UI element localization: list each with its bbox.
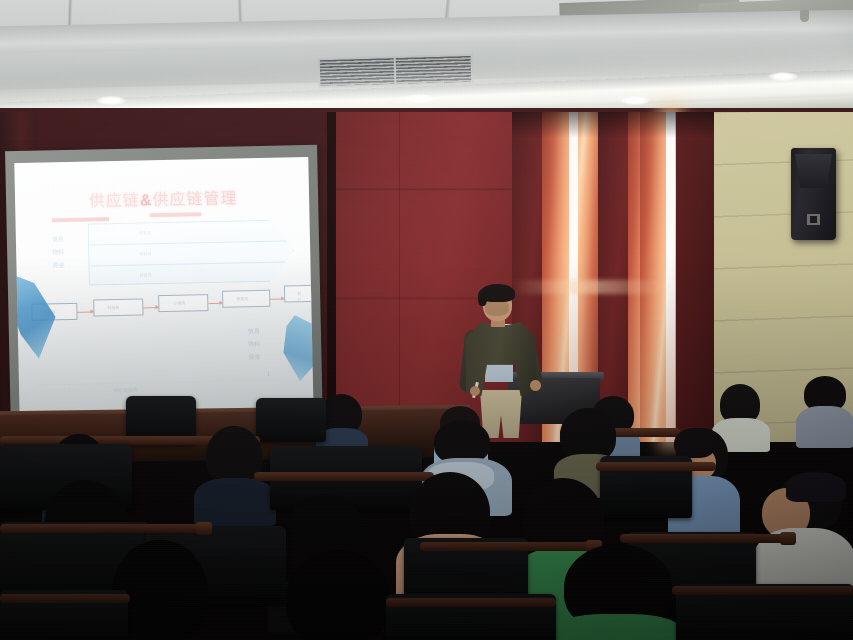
seat-armrest <box>196 522 212 535</box>
loudspeaker-icon <box>791 148 836 240</box>
slide-flow-arrow-band: 信息流 物料流 资金流 <box>88 219 295 285</box>
attendee-hair <box>286 550 390 640</box>
slide-title: 供应链&供应链管理 <box>43 183 283 212</box>
slide-flow-label: 资金 <box>248 352 260 365</box>
loudspeaker-badge <box>807 214 820 225</box>
slide-title-rule-left <box>51 217 109 222</box>
attendee-near-right <box>548 544 686 640</box>
slide-chain-arrow <box>77 311 93 312</box>
seat-rail <box>0 524 206 533</box>
slide-chain-arrow <box>143 307 158 308</box>
slide-title-prefix: 供应链 <box>89 192 140 210</box>
slide-chain-node-label: 分销商 <box>173 301 185 307</box>
slide-lane-label: 信息流 <box>139 230 151 236</box>
seat-rail <box>672 586 853 595</box>
slide-flow-label: 信息 <box>52 234 64 247</box>
attendee-hair <box>786 472 846 502</box>
slide-flow-lane-divider <box>89 261 293 266</box>
slide-title-ampersand: & <box>140 192 153 209</box>
slide-flow-label: 物料 <box>52 247 64 260</box>
seat-rail <box>596 462 716 471</box>
slide-lane-label: 物料流 <box>139 251 151 257</box>
slide-flow-label: 资金 <box>52 260 64 273</box>
seat-rail <box>0 594 130 603</box>
audience-area <box>0 372 853 640</box>
downlight-icon <box>768 72 798 81</box>
sprinkler-head-icon <box>800 10 809 22</box>
attendee-torso <box>554 614 680 640</box>
seat-armrest <box>780 532 796 545</box>
attendee-back-far-right <box>798 376 850 446</box>
slide-flow-labels-left: 信息 物料 资金 <box>52 234 65 273</box>
attendee-hair <box>674 428 716 458</box>
downlight-icon <box>620 96 650 105</box>
attendee-torso <box>796 406 853 448</box>
slide-flow-lane-divider <box>89 240 293 245</box>
downlight-icon <box>404 94 434 103</box>
slide-lane-label: 资金流 <box>140 272 152 278</box>
slide-decor-swoosh-left <box>14 272 56 359</box>
air-conditioning-vent-icon <box>318 54 474 88</box>
presenter-hair <box>480 284 515 302</box>
attendee-near-center <box>272 550 402 640</box>
slide-chain-node-label: 制造商 <box>107 305 119 311</box>
slide-chain-arrow <box>208 303 222 304</box>
slide-chain-node-label: 客户 <box>297 291 301 303</box>
downlight-icon <box>96 96 126 105</box>
presenter-face <box>485 300 509 316</box>
slide-chain-arrow <box>270 298 284 299</box>
slide-title-rule-right <box>149 212 201 217</box>
attendee-torso <box>194 478 276 526</box>
wall-slat-top-shadow <box>512 112 724 138</box>
slide-chain-node-label: 零售商 <box>236 296 248 302</box>
seat-rail <box>620 534 788 543</box>
lecture-hall-photo: 供应链&供应链管理 信息流 物料流 资金流 信息 物料 资金 <box>0 0 853 640</box>
slide-supply-chain-row: 供应商 制造商 分销商 零售商 客户 <box>31 294 301 322</box>
slide-title-suffix: 供应链管理 <box>152 190 237 209</box>
seat-rail <box>386 598 556 607</box>
slide-flow-label: 物料 <box>248 339 260 352</box>
slide-flow-labels-right: 信息 物料 资金 <box>248 326 261 365</box>
slide-flow-label: 信息 <box>248 326 260 339</box>
